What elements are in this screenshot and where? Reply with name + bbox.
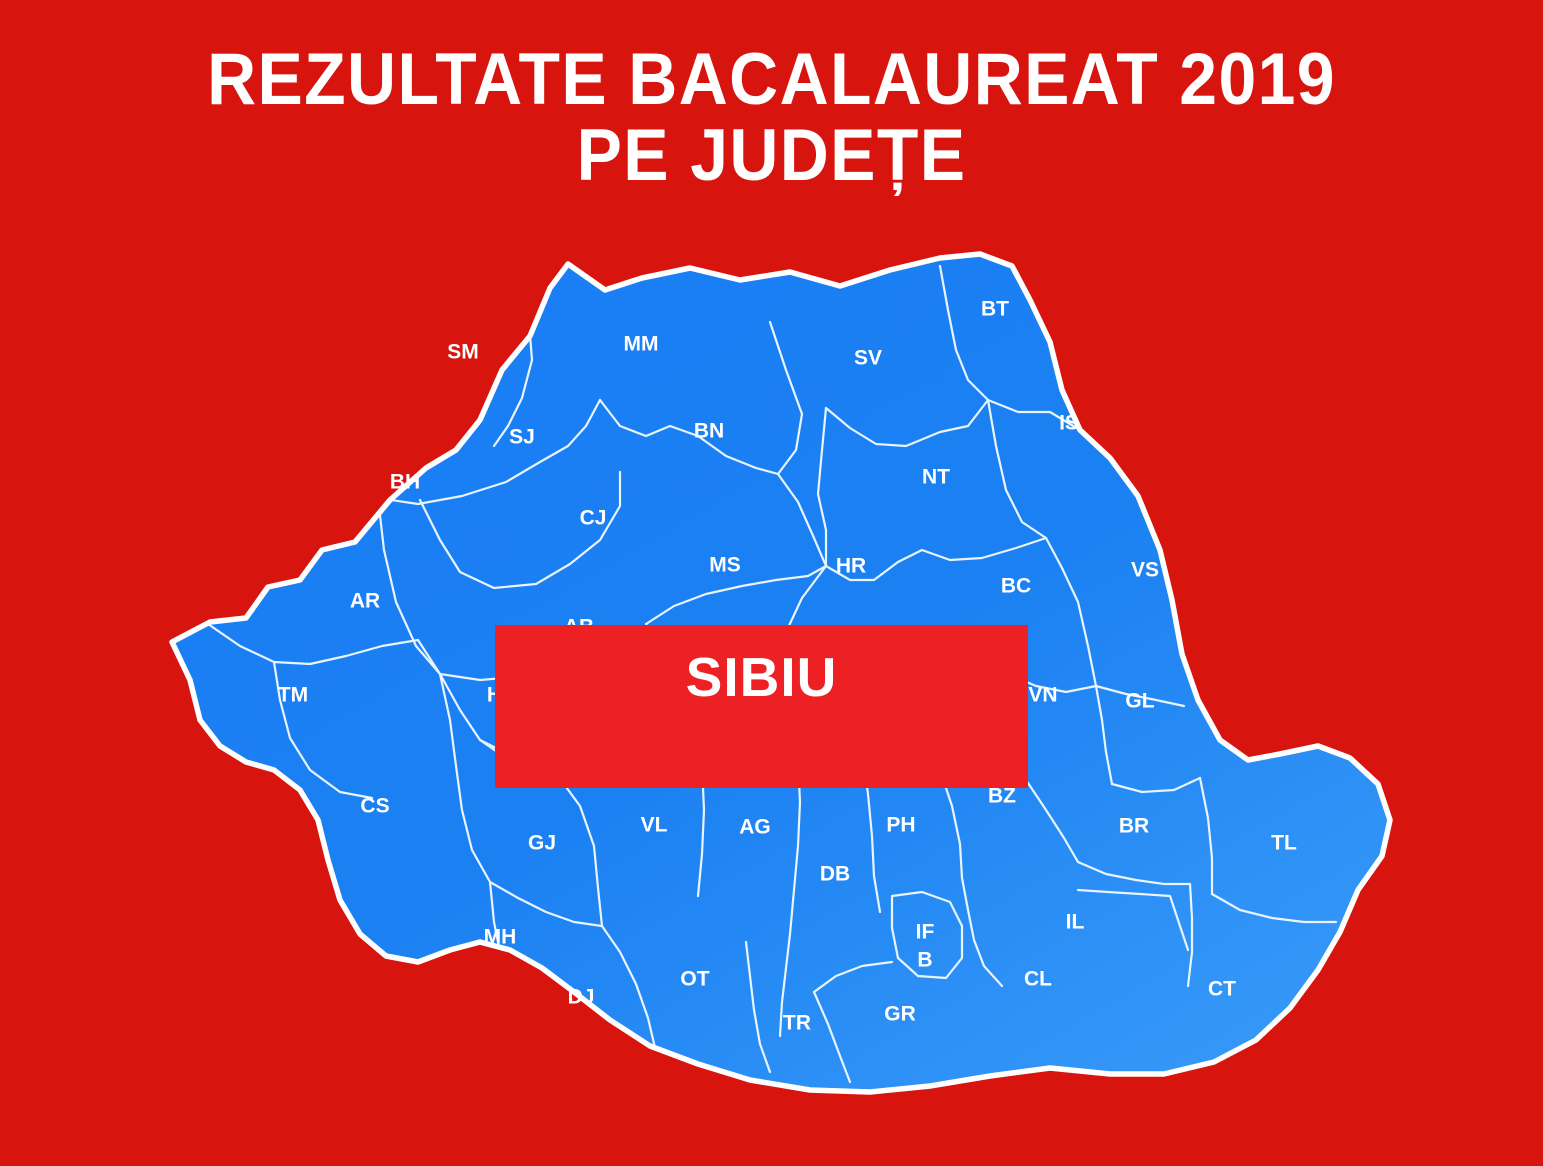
county-label-gj[interactable]: GJ <box>528 832 556 855</box>
county-label-gl[interactable]: GL <box>1125 690 1154 713</box>
county-label-hr[interactable]: HR <box>836 555 866 578</box>
county-label-cl[interactable]: CL <box>1024 968 1052 991</box>
page-title-line-1: REZULTATE BACALAUREAT 2019 <box>54 42 1489 118</box>
county-label-tr[interactable]: TR <box>783 1012 811 1035</box>
county-label-ot[interactable]: OT <box>680 968 709 991</box>
county-label-sv[interactable]: SV <box>854 347 882 370</box>
county-label-ms[interactable]: MS <box>709 554 741 577</box>
county-label-cs[interactable]: CS <box>360 795 389 818</box>
county-label-gr[interactable]: GR <box>884 1003 916 1026</box>
page-title-line-2: PE JUDEȚE <box>54 118 1489 194</box>
county-label-ph[interactable]: PH <box>886 814 915 837</box>
county-label-b[interactable]: B <box>917 949 932 972</box>
county-label-mh[interactable]: MH <box>484 926 517 949</box>
page-title: REZULTATE BACALAUREAT 2019 PE JUDEȚE <box>0 42 1543 194</box>
county-label-bn[interactable]: BN <box>694 420 724 443</box>
county-label-nt[interactable]: NT <box>922 466 950 489</box>
county-label-ag[interactable]: AG <box>739 816 771 839</box>
county-label-sj[interactable]: SJ <box>509 426 535 449</box>
county-label-bh[interactable]: BH <box>390 471 420 494</box>
county-label-tm[interactable]: TM <box>278 684 308 707</box>
county-label-vl[interactable]: VL <box>641 814 668 837</box>
county-label-sm[interactable]: SM <box>447 341 479 364</box>
county-label-ct[interactable]: CT <box>1208 978 1236 1001</box>
selected-county-name: SIBIU <box>686 647 838 707</box>
county-label-il[interactable]: IL <box>1066 911 1085 934</box>
county-label-tl[interactable]: TL <box>1271 832 1297 855</box>
county-label-if[interactable]: IF <box>916 921 935 944</box>
county-label-db[interactable]: DB <box>820 863 850 886</box>
county-label-dj[interactable]: DJ <box>568 986 595 1009</box>
county-label-br[interactable]: BR <box>1119 815 1149 838</box>
county-label-vs[interactable]: VS <box>1131 559 1159 582</box>
selected-county-banner[interactable]: SIBIU <box>495 625 1028 788</box>
county-label-vn[interactable]: VN <box>1028 684 1057 707</box>
county-label-is[interactable]: IS <box>1059 412 1079 435</box>
county-label-ar[interactable]: AR <box>350 590 380 613</box>
county-label-mm[interactable]: MM <box>624 333 659 356</box>
county-label-bc[interactable]: BC <box>1001 575 1031 598</box>
county-label-cj[interactable]: CJ <box>580 507 607 530</box>
county-label-bt[interactable]: BT <box>981 298 1009 321</box>
poster-canvas: REZULTATE BACALAUREAT 2019 PE JUDEȚE <box>0 0 1543 1166</box>
